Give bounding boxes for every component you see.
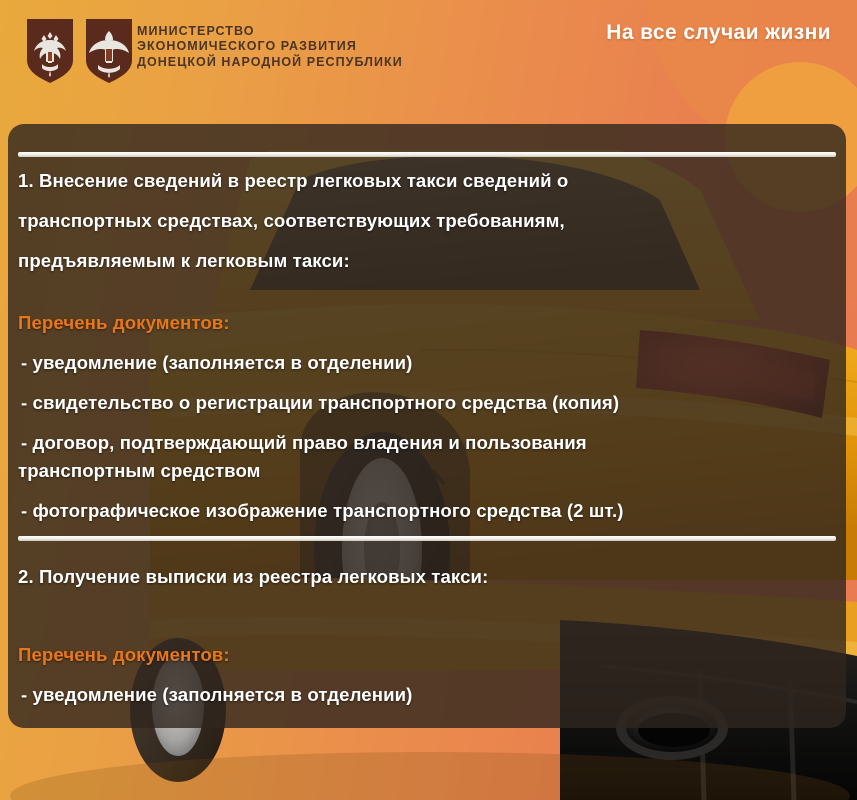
section-one-document-item: - уведомление (заполняется в отделении) <box>21 352 412 374</box>
section-two-document-item: - уведомление (заполняется в отделении) <box>21 684 412 706</box>
content-panel: 1. Внесение сведений в реестр легковых т… <box>8 124 846 728</box>
section-one-document-item: - фотографическое изображение транспортн… <box>21 500 624 522</box>
section-one-title-line-1: 1. Внесение сведений в реестр легковых т… <box>18 170 568 192</box>
section-one-document-item: - договор, подтверждающий право владения… <box>21 432 587 454</box>
poster-root: МИНИСТЕРСТВО ЭКОНОМИЧЕСКОГО РАЗВИТИЯ ДОН… <box>0 0 857 800</box>
section-one-document-item: - свидетельство о регистрации транспортн… <box>21 392 619 414</box>
divider-top <box>18 152 836 157</box>
russia-coat-of-arms-icon <box>25 18 75 84</box>
slogan: На все случаи жизни <box>606 21 831 45</box>
divider-middle <box>18 536 836 541</box>
section-two-documents-heading: Перечень документов: <box>18 644 230 666</box>
ministry-name: МИНИСТЕРСТВО ЭКОНОМИЧЕСКОГО РАЗВИТИЯ ДОН… <box>137 24 403 70</box>
section-one-document-item-wrap: транспортным средством <box>18 460 261 482</box>
header: МИНИСТЕРСТВО ЭКОНОМИЧЕСКОГО РАЗВИТИЯ ДОН… <box>0 0 857 118</box>
section-one-documents-heading: Перечень документов: <box>18 312 230 334</box>
section-one-title-line-3: предъявляемым к легковым такси: <box>18 250 350 272</box>
section-one-title-line-2: транспортных средствах, соответствующих … <box>18 210 565 232</box>
dnr-coat-of-arms-icon <box>84 18 134 84</box>
emblem-group <box>25 18 134 84</box>
section-two-title-line-1: 2. Получение выписки из реестра легковых… <box>18 566 488 588</box>
